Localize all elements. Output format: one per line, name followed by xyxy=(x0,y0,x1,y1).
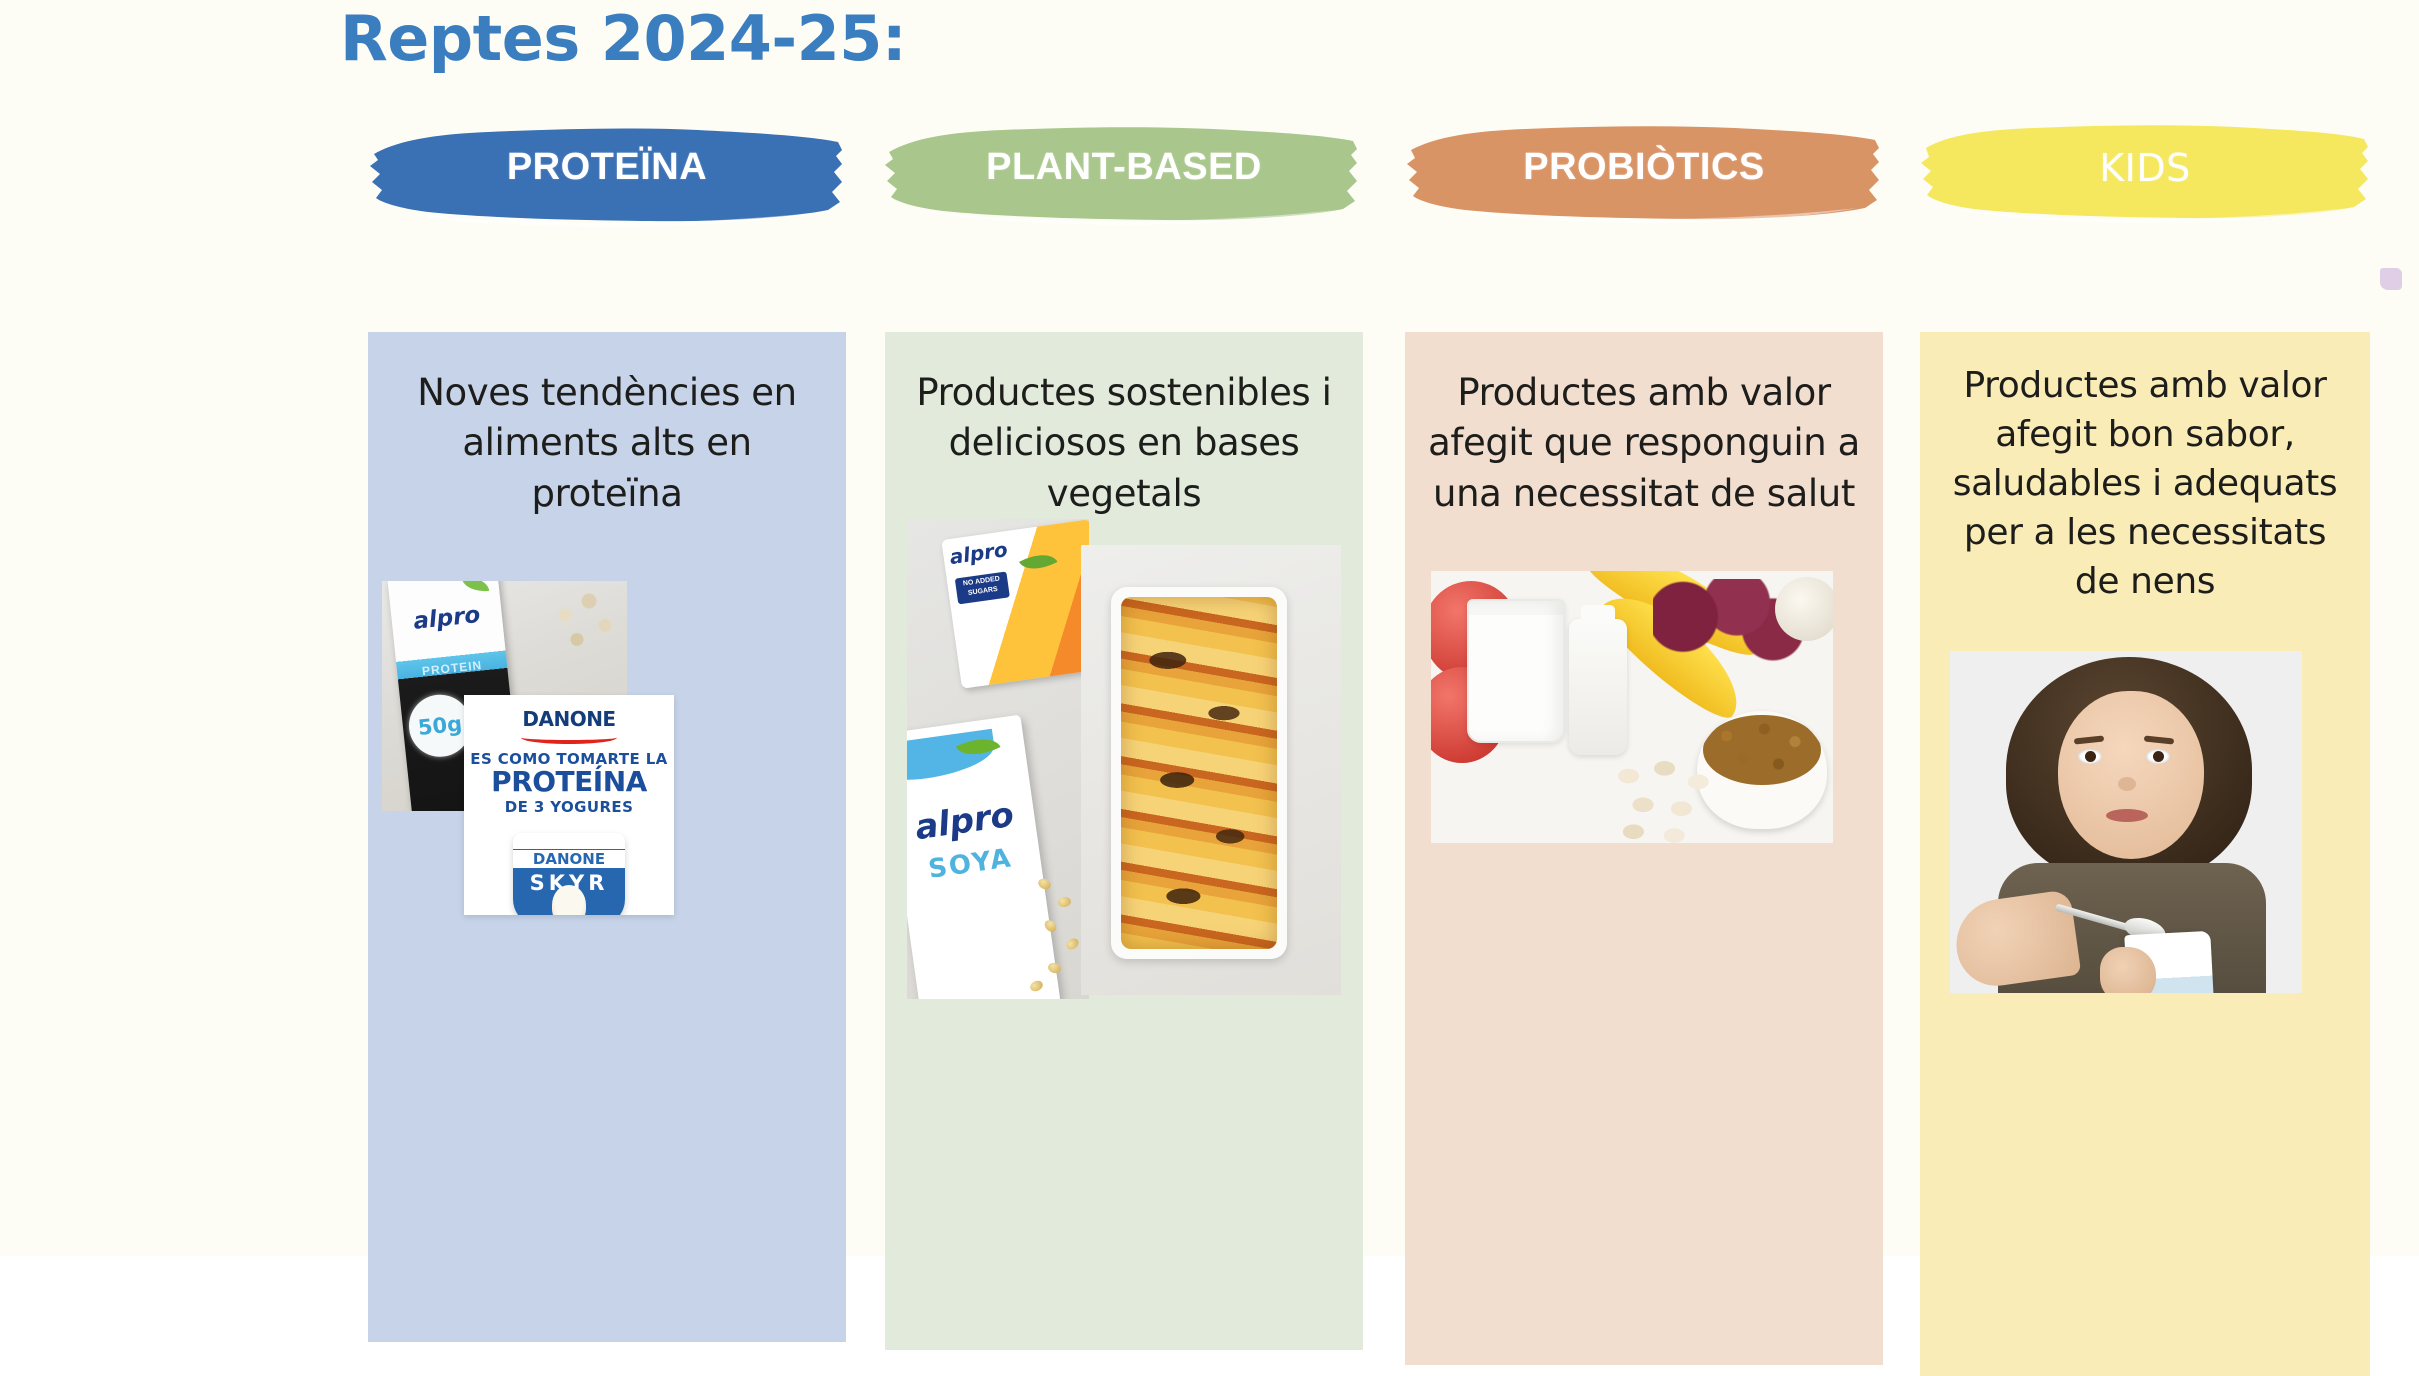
gratin-filling xyxy=(1121,597,1277,949)
danone-logo-text: DANONE xyxy=(464,707,674,731)
media-probiotics xyxy=(1405,519,1883,1039)
danone-swoosh-icon xyxy=(521,731,617,744)
child-nose xyxy=(2118,777,2136,791)
media-kids xyxy=(1920,607,2370,1167)
white-beans-decor xyxy=(1607,753,1727,843)
banner-label-plant-based: PLANT-BASED xyxy=(885,146,1363,189)
baked-gratin-dish-photo xyxy=(1081,545,1341,995)
protein-badge-value: 50g xyxy=(417,711,464,739)
panel-proteina: Noves tendències en aliments alts en pro… xyxy=(368,332,846,1342)
banner-label-probiotics: PROBIÒTICS xyxy=(1405,146,1883,189)
milk-glass-decor xyxy=(1467,599,1565,743)
panel-kids: Productes amb valor afegit bon sabor, sa… xyxy=(1920,332,2370,1376)
nuts-decor xyxy=(541,587,621,657)
child-eye xyxy=(2078,749,2102,764)
column-kids: KIDS Productes amb valor afegit bon sabo… xyxy=(1920,120,2370,235)
pot-brand-label: DANONE xyxy=(513,850,625,868)
banner-label-kids: KIDS xyxy=(1920,146,2370,190)
alpro-logo-text: alpro xyxy=(391,600,503,637)
alpro-mango-pack: alpro NO ADDED SUGARS xyxy=(941,519,1089,688)
alpro-logo-text: alpro xyxy=(948,537,1009,569)
panel-probiotics: Productes amb valor afegit que respongui… xyxy=(1405,332,1883,1365)
yogurt-drink-bottle-decor xyxy=(1569,619,1627,755)
child-eating-yogurt-photo xyxy=(1950,651,2302,993)
page-title: Reptes 2024-25: xyxy=(340,2,906,75)
panel-plant-based: Productes sostenibles i deliciosos en ba… xyxy=(885,332,1363,1350)
banner-plant-based: PLANT-BASED xyxy=(885,120,1363,235)
column-plant-based: PLANT-BASED Productes sostenibles i deli… xyxy=(885,120,1363,235)
almonds-decor xyxy=(1465,755,1597,843)
banner-label-proteina: PROTEÏNA xyxy=(368,146,846,189)
column-probiotics: PROBIÒTICS Productes amb valor afegit qu… xyxy=(1405,120,1883,235)
child-mouth xyxy=(2106,809,2148,822)
leaf-icon xyxy=(1019,546,1057,578)
media-plant-based: alpro NO ADDED SUGARS alpro SOYA xyxy=(885,519,1363,1139)
healthy-foods-photo xyxy=(1431,571,1833,843)
media-proteina: alpro PROTEIN 50g DANONE ES COMO TOMARTE… xyxy=(368,519,846,1119)
panel-text-proteina: Noves tendències en aliments alts en pro… xyxy=(368,332,846,519)
alpro-mango-and-soya-photo: alpro NO ADDED SUGARS alpro SOYA xyxy=(907,519,1089,999)
danone-proteina-ad-card: DANONE ES COMO TOMARTE LA PROTEÍNA DE 3 … xyxy=(464,695,674,915)
sky-graphic-decor xyxy=(907,729,997,785)
ad-headline-line2: PROTEÍNA xyxy=(464,768,674,796)
garlic-decor xyxy=(1775,577,1833,641)
pack-band-label: PROTEIN xyxy=(400,652,504,685)
panel-text-plant-based: Productes sostenibles i deliciosos en ba… xyxy=(885,332,1363,519)
column-proteina: PROTEÏNA Noves tendències en aliments al… xyxy=(368,120,846,235)
danone-skyr-pot: DANONE SKYR xyxy=(513,833,625,915)
panel-text-probiotics: Productes amb valor afegit que respongui… xyxy=(1405,332,1883,519)
child-eye xyxy=(2146,749,2170,764)
ad-headline-line3: DE 3 YOGURES xyxy=(464,798,674,816)
child-face xyxy=(2058,691,2204,859)
banner-proteina: PROTEÏNA xyxy=(368,120,846,235)
banner-probiotics: PROBIÒTICS xyxy=(1405,120,1883,235)
leaf-icon xyxy=(462,581,490,594)
banner-kids: KIDS xyxy=(1920,120,2370,235)
panel-text-kids: Productes amb valor afegit bon sabor, sa… xyxy=(1920,332,2370,607)
edge-artifact-mark xyxy=(2380,268,2402,290)
soy-beans-decor xyxy=(1023,873,1087,993)
no-added-sugars-badge: NO ADDED SUGARS xyxy=(955,571,1010,604)
slide-canvas: Reptes 2024-25: PROTEÏNA Noves tendèncie… xyxy=(0,0,2419,1256)
oven-tray xyxy=(1111,587,1287,959)
